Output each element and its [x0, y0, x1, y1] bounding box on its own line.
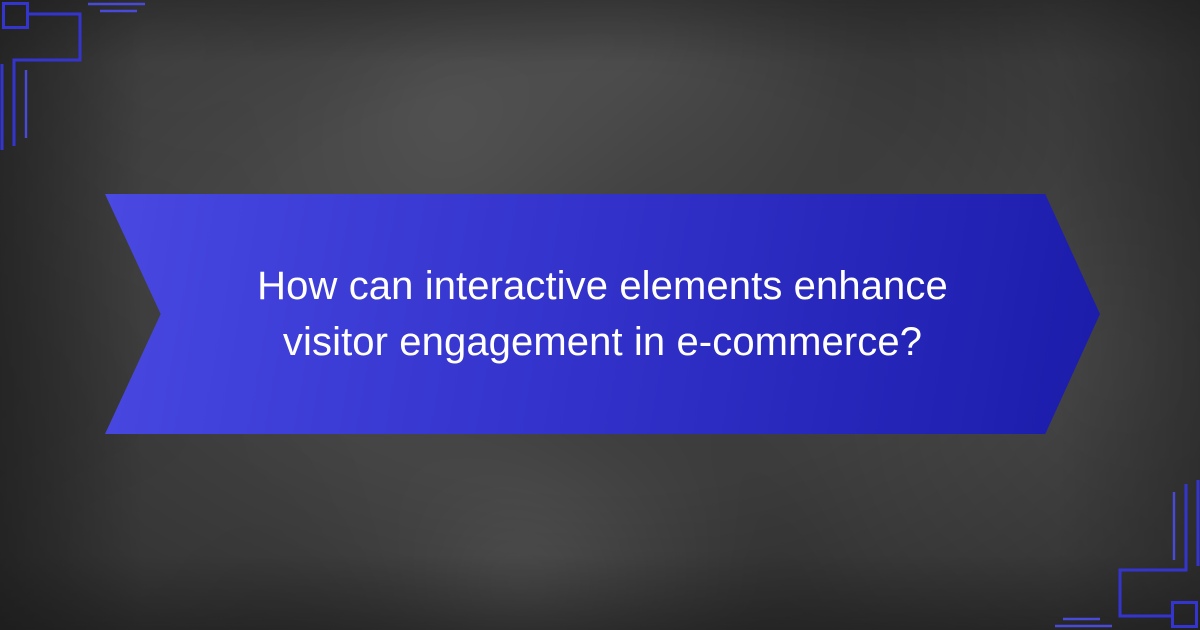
- question-text: How can interactive elements enhance vis…: [217, 258, 988, 370]
- question-banner: How can interactive elements enhance vis…: [105, 194, 1100, 434]
- poster-canvas: How can interactive elements enhance vis…: [0, 0, 1200, 630]
